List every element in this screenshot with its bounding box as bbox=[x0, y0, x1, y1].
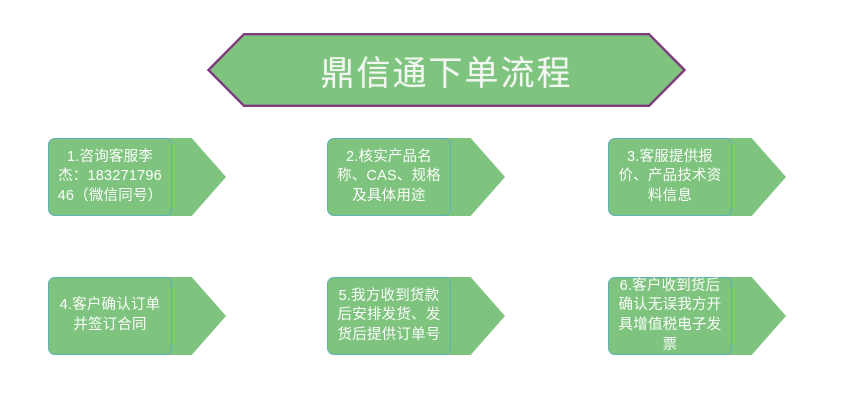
process-step-4-body: 4.客户确认订单并签订合同 bbox=[48, 277, 172, 355]
diagram-title-banner: 鼎信通下单流程 bbox=[207, 33, 686, 107]
process-step-6-label: 6.客户收到货后确认无误我方开具增值税电子发票 bbox=[614, 277, 726, 355]
process-step-5[interactable]: 5.我方收到货款后安排发货、发货后提供订单号 bbox=[327, 277, 505, 355]
process-step-6[interactable]: 6.客户收到货后确认无误我方开具增值税电子发票 bbox=[608, 277, 786, 355]
process-step-1[interactable]: 1.咨询客服李杰：18327179646（微信同号） bbox=[48, 138, 226, 216]
diagram-title-text: 鼎信通下单流程 bbox=[207, 33, 686, 107]
process-step-5-body: 5.我方收到货款后安排发货、发货后提供订单号 bbox=[327, 277, 451, 355]
process-step-2-label: 2.核实产品名称、CAS、规格及具体用途 bbox=[333, 148, 445, 207]
process-step-6-body: 6.客户收到货后确认无误我方开具增值税电子发票 bbox=[608, 277, 732, 355]
process-step-3[interactable]: 3.客服提供报价、产品技术资料信息 bbox=[608, 138, 786, 216]
process-step-3-label: 3.客服提供报价、产品技术资料信息 bbox=[614, 148, 726, 207]
process-step-2-body: 2.核实产品名称、CAS、规格及具体用途 bbox=[327, 138, 451, 216]
process-step-1-label: 1.咨询客服李杰：18327179646（微信同号） bbox=[54, 148, 166, 207]
process-step-2[interactable]: 2.核实产品名称、CAS、规格及具体用途 bbox=[327, 138, 505, 216]
process-step-3-body: 3.客服提供报价、产品技术资料信息 bbox=[608, 138, 732, 216]
process-step-4-label: 4.客户确认订单并签订合同 bbox=[54, 296, 166, 335]
process-step-5-label: 5.我方收到货款后安排发货、发货后提供订单号 bbox=[333, 287, 445, 346]
process-step-4[interactable]: 4.客户确认订单并签订合同 bbox=[48, 277, 226, 355]
process-step-1-body: 1.咨询客服李杰：18327179646（微信同号） bbox=[48, 138, 172, 216]
